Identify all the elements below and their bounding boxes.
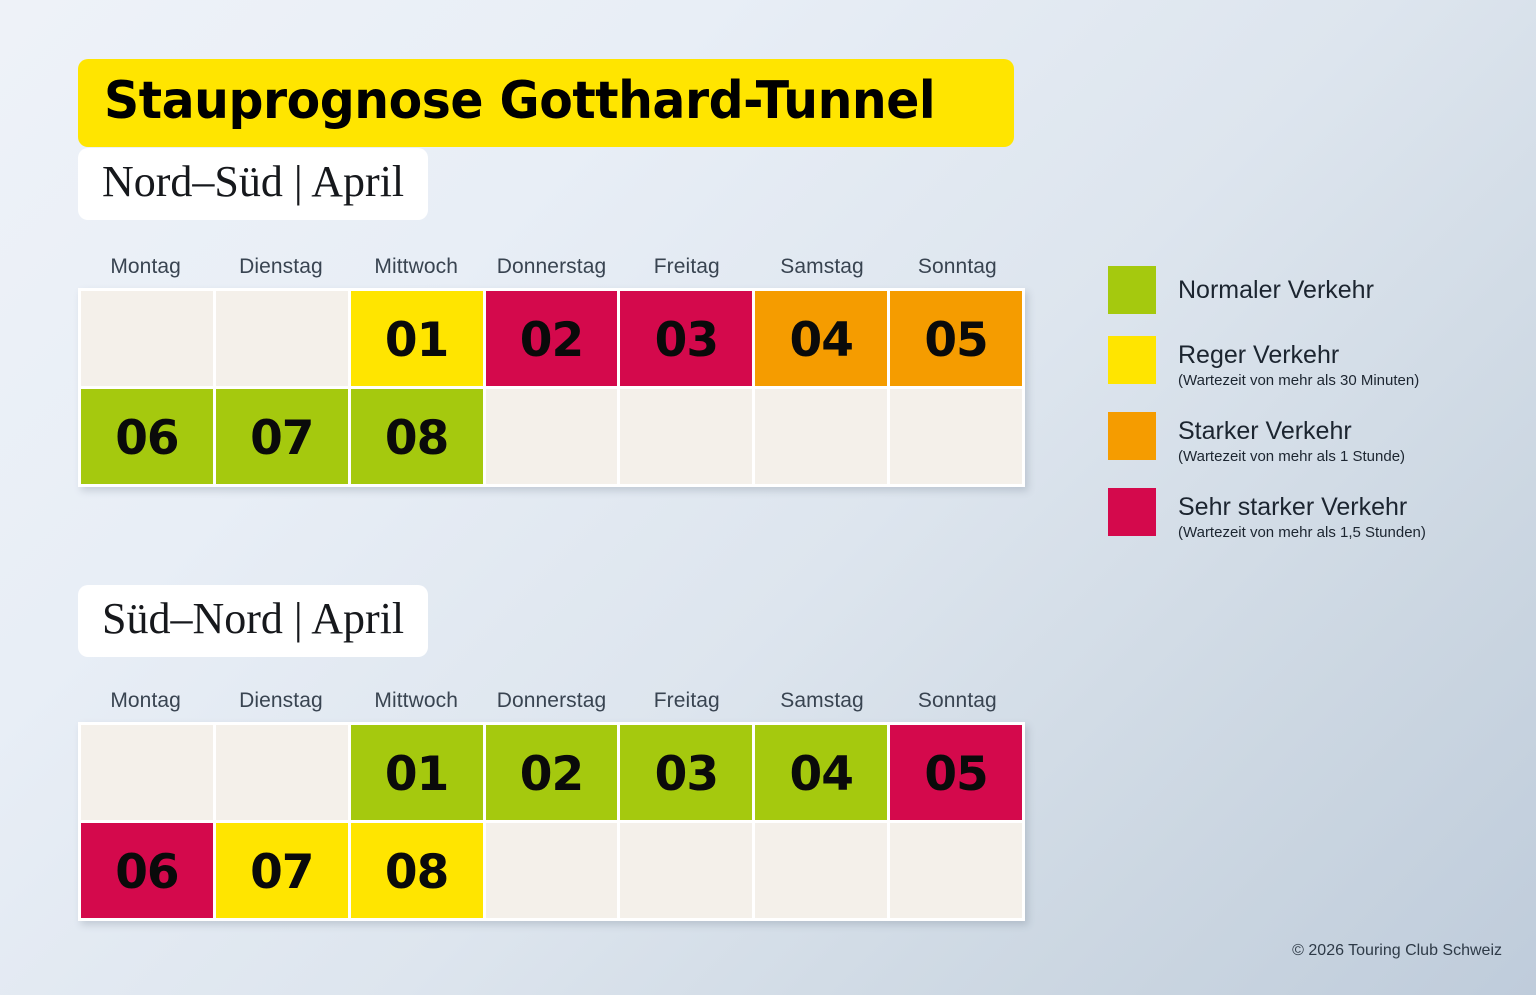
day-cell-empty <box>81 725 213 820</box>
legend-label: Normaler Verkehr <box>1178 275 1374 305</box>
weekday-header-sonntag: Sonntag <box>890 255 1025 288</box>
day-cell[interactable]: 02 <box>486 291 618 386</box>
day-number: 02 <box>520 317 583 364</box>
legend-label: Reger Verkehr <box>1178 340 1419 370</box>
day-grid-wrapper-1: 0102030405060708 <box>78 288 1025 487</box>
legend-swatch-stark <box>1108 412 1156 460</box>
legend-texts: Sehr starker Verkehr(Wartezeit von mehr … <box>1178 488 1426 542</box>
calendar-sued-nord: MontagDienstagMittwochDonnerstagFreitagS… <box>78 689 1025 921</box>
legend-sublabel: (Wartezeit von mehr als 1 Stunde) <box>1178 447 1405 466</box>
legend-swatch-normal <box>1108 266 1156 314</box>
legend-texts: Reger Verkehr(Wartezeit von mehr als 30 … <box>1178 336 1419 390</box>
day-cell[interactable]: 01 <box>351 725 483 820</box>
section-subtitle-nord-sued: Nord–Süd | April <box>102 156 404 208</box>
day-cell[interactable]: 06 <box>81 823 213 918</box>
day-cell[interactable]: 08 <box>351 823 483 918</box>
section-subtitle-sued-nord: Süd–Nord | April <box>102 593 404 645</box>
day-number: 08 <box>385 415 448 462</box>
legend-texts: Starker Verkehr(Wartezeit von mehr als 1… <box>1178 412 1405 466</box>
day-number: 04 <box>790 317 853 364</box>
day-cell[interactable]: 03 <box>620 725 752 820</box>
day-grid-2: 0102030405060708 <box>81 725 1022 918</box>
legend-item-normal: Normaler Verkehr <box>1108 266 1508 314</box>
day-number: 07 <box>250 849 313 896</box>
weekday-header-donnerstag: Donnerstag <box>484 689 619 722</box>
weekday-header-samstag: Samstag <box>754 689 889 722</box>
day-number: 06 <box>115 849 178 896</box>
day-number: 05 <box>924 317 987 364</box>
weekday-header-montag: Montag <box>78 255 213 288</box>
page-title: Stauprognose Gotthard-Tunnel <box>104 71 935 131</box>
weekday-header-montag: Montag <box>78 689 213 722</box>
legend-label: Starker Verkehr <box>1178 416 1405 446</box>
copyright-notice: © 2026 Touring Club Schweiz <box>1292 941 1502 961</box>
day-number: 01 <box>385 317 448 364</box>
day-cell-empty <box>216 725 348 820</box>
legend-sublabel: (Wartezeit von mehr als 1,5 Stunden) <box>1178 523 1426 542</box>
section-subtitle-band-sued-nord: Süd–Nord | April <box>78 585 428 657</box>
day-cell[interactable]: 03 <box>620 291 752 386</box>
weekday-header-freitag: Freitag <box>619 689 754 722</box>
day-cell[interactable]: 04 <box>755 725 887 820</box>
legend-texts: Normaler Verkehr <box>1178 266 1374 305</box>
legend-item-sehr: Sehr starker Verkehr(Wartezeit von mehr … <box>1108 488 1508 542</box>
legend-swatch-sehr <box>1108 488 1156 536</box>
legend-sublabel: (Wartezeit von mehr als 30 Minuten) <box>1178 371 1419 390</box>
weekday-header-donnerstag: Donnerstag <box>484 255 619 288</box>
legend-item-rege: Reger Verkehr(Wartezeit von mehr als 30 … <box>1108 336 1508 390</box>
day-cell-empty <box>620 823 752 918</box>
day-number: 03 <box>655 751 718 798</box>
section-subtitle-band-nord-sued: Nord–Süd | April <box>78 148 428 220</box>
weekday-header-sonntag: Sonntag <box>890 689 1025 722</box>
day-cell[interactable]: 07 <box>216 389 348 484</box>
day-cell-empty <box>81 291 213 386</box>
day-cell-empty <box>620 389 752 484</box>
legend-label: Sehr starker Verkehr <box>1178 492 1426 522</box>
day-number: 06 <box>115 415 178 462</box>
weekday-header-samstag: Samstag <box>754 255 889 288</box>
day-cell-empty <box>216 291 348 386</box>
legend-item-stark: Starker Verkehr(Wartezeit von mehr als 1… <box>1108 412 1508 466</box>
weekday-header-mittwoch: Mittwoch <box>349 689 484 722</box>
day-number: 07 <box>250 415 313 462</box>
day-cell[interactable]: 02 <box>486 725 618 820</box>
day-number: 05 <box>924 751 987 798</box>
day-number: 03 <box>655 317 718 364</box>
weekday-header-dienstag: Dienstag <box>213 689 348 722</box>
day-cell[interactable]: 08 <box>351 389 483 484</box>
weekday-header-freitag: Freitag <box>619 255 754 288</box>
day-number: 04 <box>790 751 853 798</box>
day-cell[interactable]: 04 <box>755 291 887 386</box>
day-grid-wrapper-2: 0102030405060708 <box>78 722 1025 921</box>
weekday-header-mittwoch: Mittwoch <box>349 255 484 288</box>
day-cell-empty <box>486 823 618 918</box>
day-cell[interactable]: 01 <box>351 291 483 386</box>
day-number: 02 <box>520 751 583 798</box>
legend-swatch-rege <box>1108 336 1156 384</box>
weekday-header-row-1: MontagDienstagMittwochDonnerstagFreitagS… <box>78 255 1025 288</box>
day-cell-empty <box>755 823 887 918</box>
day-cell-empty <box>890 389 1022 484</box>
day-cell[interactable]: 05 <box>890 725 1022 820</box>
main-title-band: Stauprognose Gotthard-Tunnel <box>78 59 1014 147</box>
day-number: 01 <box>385 751 448 798</box>
day-cell-empty <box>755 389 887 484</box>
calendar-nord-sued: MontagDienstagMittwochDonnerstagFreitagS… <box>78 255 1025 487</box>
weekday-header-row-2: MontagDienstagMittwochDonnerstagFreitagS… <box>78 689 1025 722</box>
day-cell-empty <box>890 823 1022 918</box>
day-cell-empty <box>486 389 618 484</box>
day-cell[interactable]: 05 <box>890 291 1022 386</box>
day-cell[interactable]: 06 <box>81 389 213 484</box>
legend: Normaler VerkehrReger Verkehr(Wartezeit … <box>1108 266 1508 564</box>
day-cell[interactable]: 07 <box>216 823 348 918</box>
day-number: 08 <box>385 849 448 896</box>
day-grid-1: 0102030405060708 <box>81 291 1022 484</box>
weekday-header-dienstag: Dienstag <box>213 255 348 288</box>
